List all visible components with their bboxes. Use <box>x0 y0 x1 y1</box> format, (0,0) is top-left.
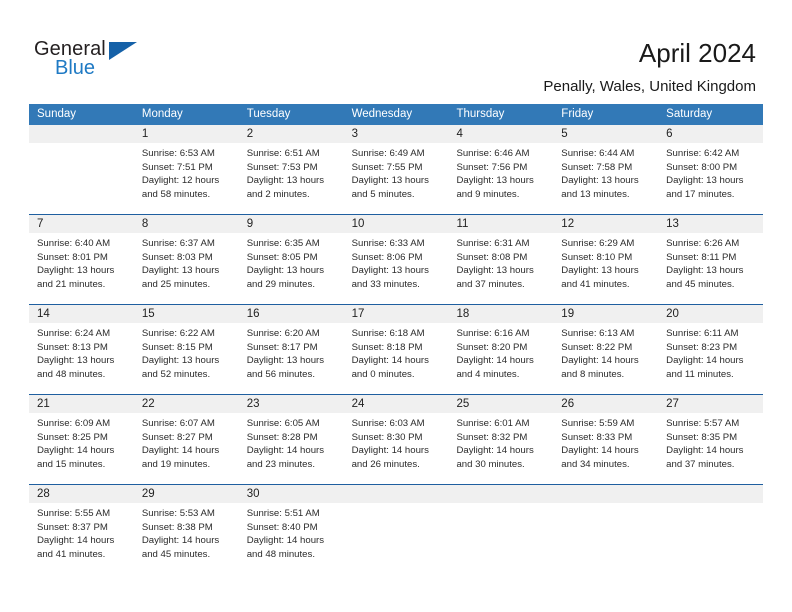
sunrise-text: Sunrise: 6:13 AM <box>561 327 652 341</box>
daylight-text-line2: and 45 minutes. <box>666 278 757 292</box>
day-number[interactable]: 29 <box>134 485 239 503</box>
daylight-text-line2: and 15 minutes. <box>37 458 128 472</box>
day-number[interactable]: 20 <box>658 305 763 323</box>
day-cell[interactable] <box>344 503 449 574</box>
day-number[interactable]: 22 <box>134 395 239 413</box>
weekday-header-saturday: Saturday <box>658 104 763 125</box>
daylight-text-line1: Daylight: 14 hours <box>142 444 233 458</box>
daylight-text-line2: and 13 minutes. <box>561 188 652 202</box>
sunset-text: Sunset: 7:55 PM <box>352 161 443 175</box>
daylight-text-line2: and 9 minutes. <box>456 188 547 202</box>
day-number[interactable]: 14 <box>29 305 134 323</box>
daylight-text-line2: and 52 minutes. <box>142 368 233 382</box>
sunset-text: Sunset: 8:27 PM <box>142 431 233 445</box>
sunset-text: Sunset: 8:28 PM <box>247 431 338 445</box>
day-cell[interactable]: Sunrise: 5:53 AM Sunset: 8:38 PM Dayligh… <box>134 503 239 574</box>
day-number[interactable]: 24 <box>344 395 449 413</box>
daylight-text-line2: and 0 minutes. <box>352 368 443 382</box>
daylight-text-line1: Daylight: 14 hours <box>352 354 443 368</box>
daylight-text-line1: Daylight: 13 hours <box>352 264 443 278</box>
sunrise-text: Sunrise: 6:49 AM <box>352 147 443 161</box>
sunset-text: Sunset: 8:37 PM <box>37 521 128 535</box>
page-title: April 2024 <box>639 38 756 68</box>
day-number[interactable]: 15 <box>134 305 239 323</box>
day-number[interactable]: 12 <box>553 215 658 233</box>
logo-text-blue: Blue <box>55 57 95 79</box>
daylight-text-line2: and 33 minutes. <box>352 278 443 292</box>
weekday-header-tuesday: Tuesday <box>239 104 344 125</box>
sunrise-text: Sunrise: 6:24 AM <box>37 327 128 341</box>
day-cell[interactable] <box>448 503 553 574</box>
day-cell[interactable]: Sunrise: 6:53 AM Sunset: 7:51 PM Dayligh… <box>134 143 239 214</box>
day-cell[interactable]: Sunrise: 6:33 AM Sunset: 8:06 PM Dayligh… <box>344 233 449 304</box>
daylight-text-line1: Daylight: 14 hours <box>37 444 128 458</box>
daylight-text-line1: Daylight: 14 hours <box>561 444 652 458</box>
day-number[interactable] <box>29 125 134 143</box>
page-header: General Blue April 2024 Penally, Wales, … <box>0 0 792 100</box>
sunset-text: Sunset: 8:20 PM <box>456 341 547 355</box>
daylight-text-line2: and 8 minutes. <box>561 368 652 382</box>
day-cell[interactable]: Sunrise: 6:35 AM Sunset: 8:05 PM Dayligh… <box>239 233 344 304</box>
sunrise-text: Sunrise: 5:55 AM <box>37 507 128 521</box>
day-number[interactable]: 30 <box>239 485 344 503</box>
sunset-text: Sunset: 8:18 PM <box>352 341 443 355</box>
daylight-text-line1: Daylight: 13 hours <box>37 354 128 368</box>
day-cell[interactable]: Sunrise: 6:49 AM Sunset: 7:55 PM Dayligh… <box>344 143 449 214</box>
day-number[interactable]: 11 <box>448 215 553 233</box>
day-number[interactable]: 5 <box>553 125 658 143</box>
week-detail-row: Sunrise: 5:55 AM Sunset: 8:37 PM Dayligh… <box>29 503 763 574</box>
general-blue-logo[interactable]: General Blue <box>34 38 174 84</box>
day-cell[interactable]: Sunrise: 6:13 AM Sunset: 8:22 PM Dayligh… <box>553 323 658 394</box>
day-number[interactable]: 17 <box>344 305 449 323</box>
day-number[interactable]: 6 <box>658 125 763 143</box>
week-row: 1 2 3 4 5 6 Sunrise: 6:53 AM Sunset: 7:5… <box>29 125 763 214</box>
daylight-text-line2: and 26 minutes. <box>352 458 443 472</box>
daylight-text-line2: and 45 minutes. <box>142 548 233 562</box>
daylight-text-line2: and 48 minutes. <box>37 368 128 382</box>
logo-triangle-icon <box>109 42 137 60</box>
sunset-text: Sunset: 8:23 PM <box>666 341 757 355</box>
day-cell[interactable]: Sunrise: 6:01 AM Sunset: 8:32 PM Dayligh… <box>448 413 553 484</box>
daylight-text-line1: Daylight: 14 hours <box>247 444 338 458</box>
day-cell[interactable]: Sunrise: 6:44 AM Sunset: 7:58 PM Dayligh… <box>553 143 658 214</box>
day-number[interactable]: 16 <box>239 305 344 323</box>
day-cell[interactable]: Sunrise: 6:26 AM Sunset: 8:11 PM Dayligh… <box>658 233 763 304</box>
calendar-table: Sunday Monday Tuesday Wednesday Thursday… <box>29 104 763 574</box>
sunrise-text: Sunrise: 6:05 AM <box>247 417 338 431</box>
week-daynumber-row: 1 2 3 4 5 6 <box>29 125 763 143</box>
day-number[interactable]: 25 <box>448 395 553 413</box>
weekday-header-sunday: Sunday <box>29 104 134 125</box>
daylight-text-line1: Daylight: 13 hours <box>142 354 233 368</box>
day-number[interactable]: 8 <box>134 215 239 233</box>
day-number[interactable] <box>448 485 553 503</box>
weekday-header-wednesday: Wednesday <box>344 104 449 125</box>
daylight-text-line2: and 11 minutes. <box>666 368 757 382</box>
sunset-text: Sunset: 7:58 PM <box>561 161 652 175</box>
daylight-text-line1: Daylight: 14 hours <box>142 534 233 548</box>
day-number[interactable]: 9 <box>239 215 344 233</box>
daylight-text-line1: Daylight: 14 hours <box>37 534 128 548</box>
day-cell[interactable]: Sunrise: 6:29 AM Sunset: 8:10 PM Dayligh… <box>553 233 658 304</box>
sunset-text: Sunset: 8:06 PM <box>352 251 443 265</box>
sunset-text: Sunset: 7:56 PM <box>456 161 547 175</box>
daylight-text-line1: Daylight: 13 hours <box>142 264 233 278</box>
sunrise-text: Sunrise: 6:31 AM <box>456 237 547 251</box>
daylight-text-line2: and 23 minutes. <box>247 458 338 472</box>
week-detail-row: Sunrise: 6:24 AM Sunset: 8:13 PM Dayligh… <box>29 323 763 394</box>
sunrise-text: Sunrise: 5:51 AM <box>247 507 338 521</box>
day-number[interactable]: 18 <box>448 305 553 323</box>
daylight-text-line2: and 37 minutes. <box>456 278 547 292</box>
sunset-text: Sunset: 8:08 PM <box>456 251 547 265</box>
sunset-text: Sunset: 8:10 PM <box>561 251 652 265</box>
sunset-text: Sunset: 8:22 PM <box>561 341 652 355</box>
sunset-text: Sunset: 8:13 PM <box>37 341 128 355</box>
day-number[interactable]: 1 <box>134 125 239 143</box>
day-cell[interactable]: Sunrise: 6:46 AM Sunset: 7:56 PM Dayligh… <box>448 143 553 214</box>
sunrise-text: Sunrise: 6:07 AM <box>142 417 233 431</box>
day-cell[interactable]: Sunrise: 6:05 AM Sunset: 8:28 PM Dayligh… <box>239 413 344 484</box>
day-cell[interactable]: Sunrise: 5:51 AM Sunset: 8:40 PM Dayligh… <box>239 503 344 574</box>
daylight-text-line2: and 17 minutes. <box>666 188 757 202</box>
daylight-text-line2: and 58 minutes. <box>142 188 233 202</box>
daylight-text-line1: Daylight: 14 hours <box>247 534 338 548</box>
daylight-text-line1: Daylight: 13 hours <box>666 174 757 188</box>
day-cell[interactable]: Sunrise: 6:20 AM Sunset: 8:17 PM Dayligh… <box>239 323 344 394</box>
week-daynumber-row: 7 8 9 10 11 12 13 <box>29 215 763 233</box>
week-daynumber-row: 21 22 23 24 25 26 27 <box>29 395 763 413</box>
daylight-text-line2: and 37 minutes. <box>666 458 757 472</box>
day-cell[interactable]: Sunrise: 6:07 AM Sunset: 8:27 PM Dayligh… <box>134 413 239 484</box>
sunrise-text: Sunrise: 5:59 AM <box>561 417 652 431</box>
daylight-text-line1: Daylight: 13 hours <box>37 264 128 278</box>
weekday-header-row: Sunday Monday Tuesday Wednesday Thursday… <box>29 104 763 125</box>
day-cell[interactable]: Sunrise: 5:55 AM Sunset: 8:37 PM Dayligh… <box>29 503 134 574</box>
day-number[interactable]: 7 <box>29 215 134 233</box>
daylight-text-line2: and 30 minutes. <box>456 458 547 472</box>
day-cell[interactable]: Sunrise: 6:40 AM Sunset: 8:01 PM Dayligh… <box>29 233 134 304</box>
day-number[interactable] <box>344 485 449 503</box>
day-cell[interactable]: Sunrise: 6:18 AM Sunset: 8:18 PM Dayligh… <box>344 323 449 394</box>
sunset-text: Sunset: 8:11 PM <box>666 251 757 265</box>
daylight-text-line2: and 34 minutes. <box>561 458 652 472</box>
daylight-text-line1: Daylight: 13 hours <box>561 174 652 188</box>
page-subtitle-location: Penally, Wales, United Kingdom <box>543 78 756 96</box>
sunrise-text: Sunrise: 6:37 AM <box>142 237 233 251</box>
daylight-text-line2: and 5 minutes. <box>352 188 443 202</box>
daylight-text-line1: Daylight: 13 hours <box>247 174 338 188</box>
day-cell[interactable] <box>553 503 658 574</box>
daylight-text-line2: and 41 minutes. <box>561 278 652 292</box>
sunrise-text: Sunrise: 6:03 AM <box>352 417 443 431</box>
sunset-text: Sunset: 8:40 PM <box>247 521 338 535</box>
day-number[interactable]: 3 <box>344 125 449 143</box>
daylight-text-line1: Daylight: 13 hours <box>666 264 757 278</box>
week-daynumber-row: 14 15 16 17 18 19 20 <box>29 305 763 323</box>
sunset-text: Sunset: 8:33 PM <box>561 431 652 445</box>
sunrise-text: Sunrise: 6:53 AM <box>142 147 233 161</box>
sunset-text: Sunset: 7:53 PM <box>247 161 338 175</box>
day-cell[interactable] <box>658 503 763 574</box>
day-cell[interactable] <box>29 143 134 214</box>
daylight-text-line1: Daylight: 13 hours <box>456 264 547 278</box>
sunrise-text: Sunrise: 5:53 AM <box>142 507 233 521</box>
day-cell[interactable]: Sunrise: 6:03 AM Sunset: 8:30 PM Dayligh… <box>344 413 449 484</box>
daylight-text-line1: Daylight: 14 hours <box>456 354 547 368</box>
day-number[interactable]: 28 <box>29 485 134 503</box>
sunrise-text: Sunrise: 6:40 AM <box>37 237 128 251</box>
day-cell[interactable]: Sunrise: 6:11 AM Sunset: 8:23 PM Dayligh… <box>658 323 763 394</box>
sunrise-text: Sunrise: 6:01 AM <box>456 417 547 431</box>
calendar-page: General Blue April 2024 Penally, Wales, … <box>0 0 792 612</box>
daylight-text-line1: Daylight: 13 hours <box>456 174 547 188</box>
week-detail-row: Sunrise: 6:09 AM Sunset: 8:25 PM Dayligh… <box>29 413 763 484</box>
day-number[interactable]: 26 <box>553 395 658 413</box>
week-row: 28 29 30 Sunrise: 5:55 AM Sunset: 8:37 P… <box>29 484 763 574</box>
sunrise-text: Sunrise: 6:09 AM <box>37 417 128 431</box>
daylight-text-line2: and 29 minutes. <box>247 278 338 292</box>
daylight-text-line2: and 41 minutes. <box>37 548 128 562</box>
daylight-text-line2: and 2 minutes. <box>247 188 338 202</box>
day-cell[interactable]: Sunrise: 6:09 AM Sunset: 8:25 PM Dayligh… <box>29 413 134 484</box>
day-cell[interactable]: Sunrise: 6:42 AM Sunset: 8:00 PM Dayligh… <box>658 143 763 214</box>
daylight-text-line1: Daylight: 14 hours <box>456 444 547 458</box>
day-number[interactable]: 19 <box>553 305 658 323</box>
sunset-text: Sunset: 8:15 PM <box>142 341 233 355</box>
sunset-text: Sunset: 8:01 PM <box>37 251 128 265</box>
day-number[interactable] <box>553 485 658 503</box>
daylight-text-line2: and 21 minutes. <box>37 278 128 292</box>
week-detail-row: Sunrise: 6:40 AM Sunset: 8:01 PM Dayligh… <box>29 233 763 304</box>
day-number[interactable]: 23 <box>239 395 344 413</box>
daylight-text-line1: Daylight: 12 hours <box>142 174 233 188</box>
sunrise-text: Sunrise: 6:51 AM <box>247 147 338 161</box>
week-detail-row: Sunrise: 6:53 AM Sunset: 7:51 PM Dayligh… <box>29 143 763 214</box>
daylight-text-line2: and 19 minutes. <box>142 458 233 472</box>
daylight-text-line1: Daylight: 14 hours <box>666 354 757 368</box>
daylight-text-line1: Daylight: 13 hours <box>561 264 652 278</box>
week-row: 7 8 9 10 11 12 13 Sunrise: 6:40 AM Sunse… <box>29 214 763 304</box>
sunset-text: Sunset: 8:05 PM <box>247 251 338 265</box>
day-number[interactable]: 4 <box>448 125 553 143</box>
sunset-text: Sunset: 8:00 PM <box>666 161 757 175</box>
daylight-text-line1: Daylight: 14 hours <box>352 444 443 458</box>
day-cell[interactable]: Sunrise: 5:57 AM Sunset: 8:35 PM Dayligh… <box>658 413 763 484</box>
sunset-text: Sunset: 8:17 PM <box>247 341 338 355</box>
sunset-text: Sunset: 8:03 PM <box>142 251 233 265</box>
day-number[interactable]: 2 <box>239 125 344 143</box>
week-row: 21 22 23 24 25 26 27 Sunrise: 6:09 AM Su… <box>29 394 763 484</box>
daylight-text-line2: and 4 minutes. <box>456 368 547 382</box>
sunrise-text: Sunrise: 6:11 AM <box>666 327 757 341</box>
daylight-text-line2: and 25 minutes. <box>142 278 233 292</box>
sunset-text: Sunset: 8:25 PM <box>37 431 128 445</box>
day-cell[interactable]: Sunrise: 6:51 AM Sunset: 7:53 PM Dayligh… <box>239 143 344 214</box>
sunrise-text: Sunrise: 6:33 AM <box>352 237 443 251</box>
daylight-text-line1: Daylight: 14 hours <box>666 444 757 458</box>
sunrise-text: Sunrise: 6:35 AM <box>247 237 338 251</box>
sunrise-text: Sunrise: 6:18 AM <box>352 327 443 341</box>
week-daynumber-row: 28 29 30 <box>29 485 763 503</box>
sunrise-text: Sunrise: 6:16 AM <box>456 327 547 341</box>
sunrise-text: Sunrise: 5:57 AM <box>666 417 757 431</box>
day-cell[interactable]: Sunrise: 5:59 AM Sunset: 8:33 PM Dayligh… <box>553 413 658 484</box>
sunrise-text: Sunrise: 6:29 AM <box>561 237 652 251</box>
sunrise-text: Sunrise: 6:20 AM <box>247 327 338 341</box>
sunrise-text: Sunrise: 6:22 AM <box>142 327 233 341</box>
daylight-text-line1: Daylight: 13 hours <box>247 354 338 368</box>
day-number[interactable]: 27 <box>658 395 763 413</box>
daylight-text-line1: Daylight: 13 hours <box>352 174 443 188</box>
weekday-header-monday: Monday <box>134 104 239 125</box>
sunrise-text: Sunrise: 6:46 AM <box>456 147 547 161</box>
daylight-text-line2: and 56 minutes. <box>247 368 338 382</box>
weekday-header-friday: Friday <box>553 104 658 125</box>
daylight-text-line1: Daylight: 13 hours <box>247 264 338 278</box>
sunset-text: Sunset: 8:38 PM <box>142 521 233 535</box>
day-number[interactable]: 21 <box>29 395 134 413</box>
day-number[interactable]: 13 <box>658 215 763 233</box>
day-cell[interactable]: Sunrise: 6:24 AM Sunset: 8:13 PM Dayligh… <box>29 323 134 394</box>
daylight-text-line2: and 48 minutes. <box>247 548 338 562</box>
day-number[interactable] <box>658 485 763 503</box>
sunset-text: Sunset: 8:32 PM <box>456 431 547 445</box>
sunrise-text: Sunrise: 6:44 AM <box>561 147 652 161</box>
sunset-text: Sunset: 8:35 PM <box>666 431 757 445</box>
weekday-header-thursday: Thursday <box>448 104 553 125</box>
day-cell[interactable]: Sunrise: 6:22 AM Sunset: 8:15 PM Dayligh… <box>134 323 239 394</box>
sunset-text: Sunset: 8:30 PM <box>352 431 443 445</box>
week-row: 14 15 16 17 18 19 20 Sunrise: 6:24 AM Su… <box>29 304 763 394</box>
daylight-text-line1: Daylight: 14 hours <box>561 354 652 368</box>
day-cell[interactable]: Sunrise: 6:31 AM Sunset: 8:08 PM Dayligh… <box>448 233 553 304</box>
sunrise-text: Sunrise: 6:26 AM <box>666 237 757 251</box>
day-cell[interactable]: Sunrise: 6:37 AM Sunset: 8:03 PM Dayligh… <box>134 233 239 304</box>
sunrise-text: Sunrise: 6:42 AM <box>666 147 757 161</box>
day-number[interactable]: 10 <box>344 215 449 233</box>
day-cell[interactable]: Sunrise: 6:16 AM Sunset: 8:20 PM Dayligh… <box>448 323 553 394</box>
sunset-text: Sunset: 7:51 PM <box>142 161 233 175</box>
